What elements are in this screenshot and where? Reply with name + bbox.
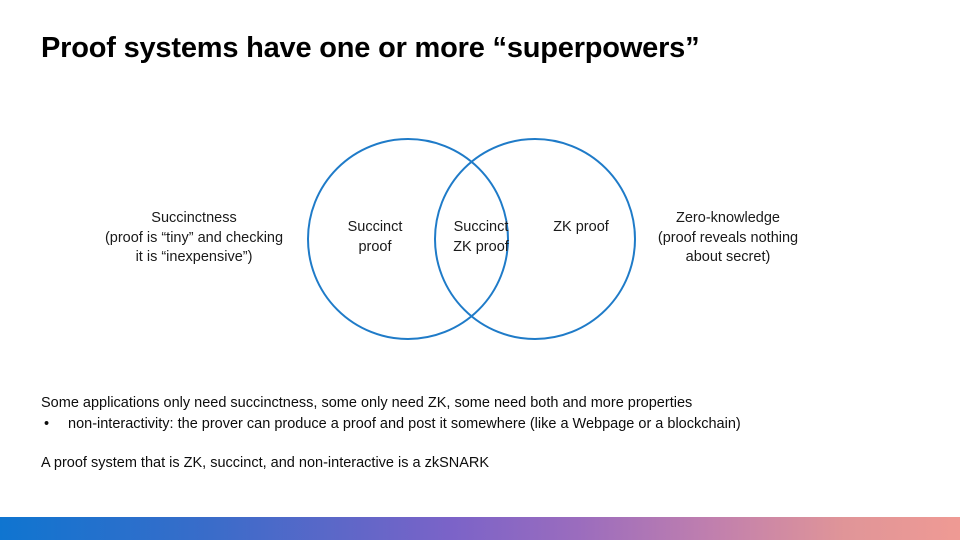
venn-label-succinct-proof: Succinct proof (320, 218, 430, 257)
caption-zero-knowledge: Zero-knowledge (proof reveals nothing ab… (638, 209, 818, 268)
venn-label-succinct-zk-proof: Succinct ZK proof (426, 218, 536, 257)
accent-gradient-bar (0, 517, 960, 540)
body-line-zksnark: A proof system that is ZK, succinct, and… (41, 453, 921, 474)
body-bullet-non-interactivity: • non-interactivity: the prover can prod… (41, 414, 921, 435)
body-line-applications: Some applications only need succinctness… (41, 393, 921, 414)
page-title: Proof systems have one or more “superpow… (41, 30, 911, 66)
bullet-marker-icon: • (44, 414, 49, 435)
body-spacer (41, 435, 921, 453)
slide-canvas: Proof systems have one or more “superpow… (0, 0, 960, 540)
body-text-block: Some applications only need succinctness… (41, 393, 921, 474)
venn-label-zk-proof: ZK proof (526, 218, 636, 238)
caption-succinctness: Succinctness (proof is “tiny” and checki… (78, 209, 310, 268)
venn-diagram: Succinct proof Succinct ZK proof ZK proo… (300, 130, 645, 350)
body-bullet-text: non-interactivity: the prover can produc… (68, 416, 741, 432)
